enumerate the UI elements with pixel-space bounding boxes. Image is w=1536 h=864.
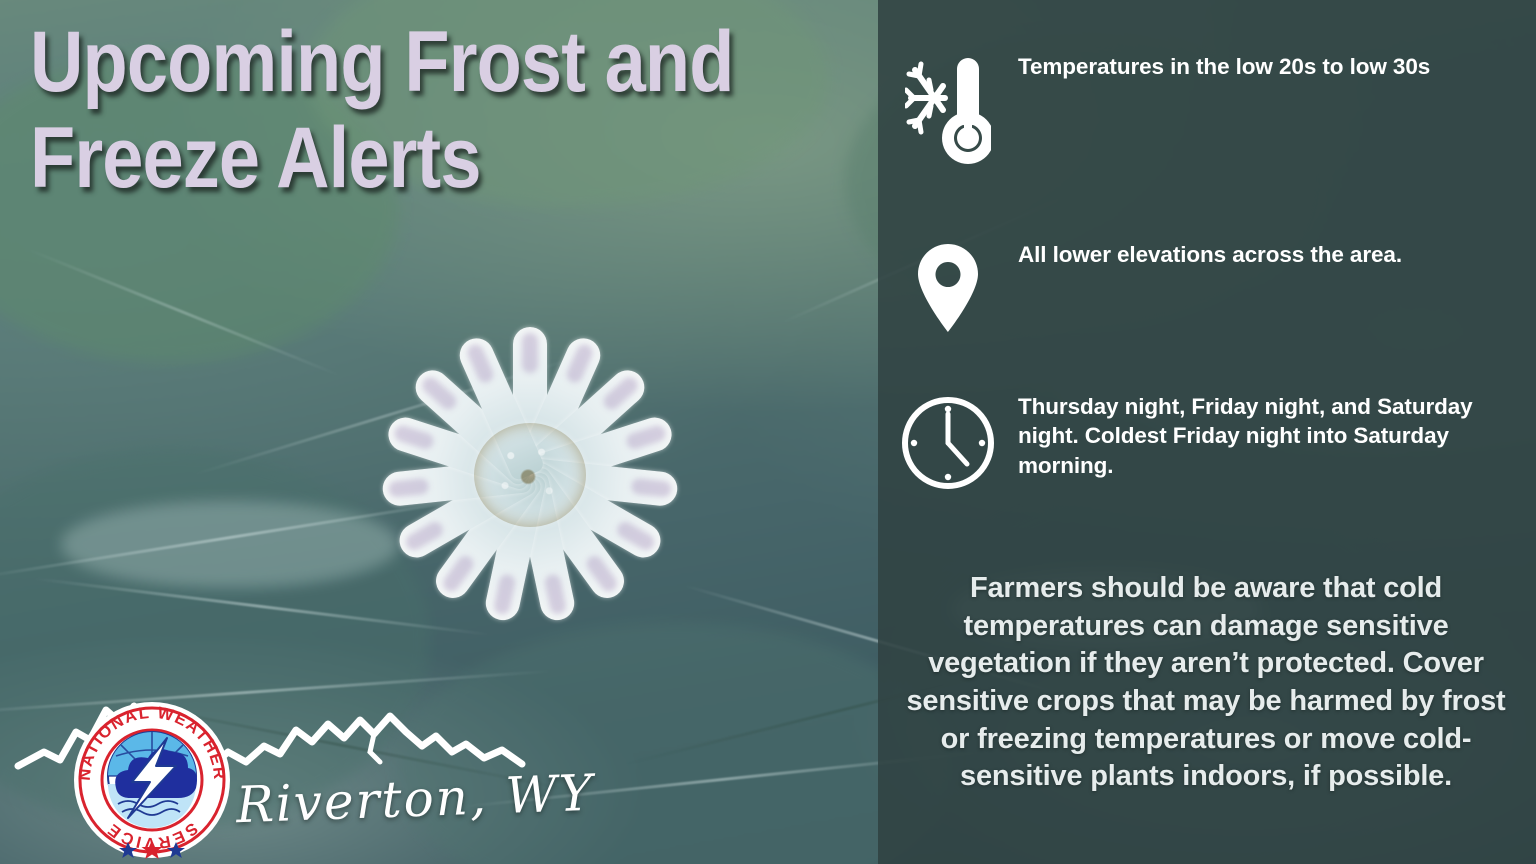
frosted-daisy-icon bbox=[365, 310, 695, 640]
page-title: Upcoming Frost and Freeze Alerts bbox=[30, 14, 744, 207]
daisy-center bbox=[474, 423, 586, 527]
grass-highlight-1 bbox=[61, 501, 399, 587]
info-row-timing: Thursday night, Friday night, and Saturd… bbox=[878, 392, 1536, 492]
info-row-location-text: All lower elevations across the area. bbox=[1018, 240, 1536, 269]
advisory-paragraph: Farmers should be aware that cold temper… bbox=[890, 570, 1522, 796]
info-panel: Temperatures in the low 20s to low 30s A… bbox=[878, 0, 1536, 864]
nws-logo: NATIONAL WEATHER SERVICE bbox=[72, 700, 232, 860]
clock-icon bbox=[878, 392, 1018, 492]
info-row-timing-text: Thursday night, Friday night, and Saturd… bbox=[1018, 392, 1536, 480]
info-row-location: All lower elevations across the area. bbox=[878, 240, 1536, 334]
info-row-temperature-text: Temperatures in the low 20s to low 30s bbox=[1018, 52, 1536, 81]
weather-graphic: Upcoming Frost and Freeze Alerts bbox=[0, 0, 1536, 864]
map-pin-icon bbox=[878, 240, 1018, 334]
thermometer-snowflake-icon bbox=[878, 52, 1018, 172]
info-row-temperature: Temperatures in the low 20s to low 30s bbox=[878, 52, 1536, 172]
